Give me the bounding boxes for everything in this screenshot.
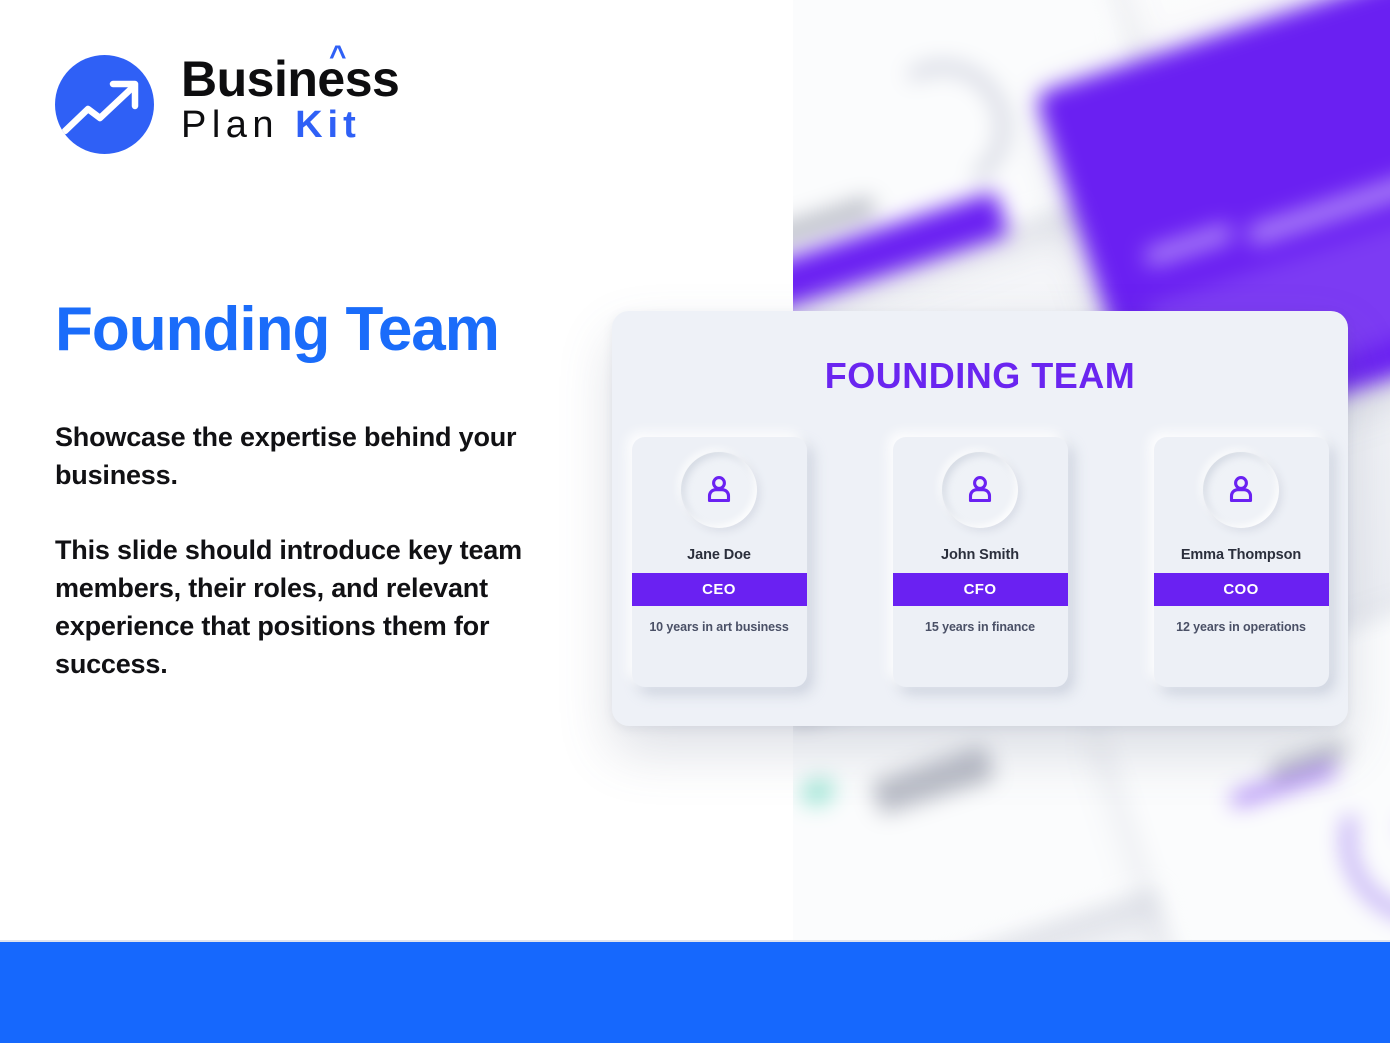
member-role-badge: CEO xyxy=(632,573,807,606)
description-paragraph-2: This slide should introduce key team mem… xyxy=(55,531,595,683)
brand-name-kit: Kit xyxy=(295,104,361,146)
description-paragraph-1: Showcase the expertise behind your busin… xyxy=(55,418,595,494)
footer-divider xyxy=(0,940,1390,942)
bg-label-4b xyxy=(870,745,995,815)
brand-name-business: Business xyxy=(181,51,399,107)
brand-logo[interactable]: Business ^ PlanKit xyxy=(55,53,399,155)
page-title: Founding Team xyxy=(55,293,499,367)
member-experience: 15 years in finance xyxy=(925,620,1035,634)
person-icon xyxy=(942,452,1018,528)
bg-text-2a xyxy=(1143,222,1234,267)
brand-name-line2: PlanKit xyxy=(181,103,399,155)
member-experience: 10 years in art business xyxy=(649,620,788,634)
person-icon xyxy=(1203,452,1279,528)
bg-ring-1 xyxy=(866,50,1020,204)
brand-name-line1: Business ^ xyxy=(181,53,399,105)
bg-dot-4 xyxy=(798,774,838,809)
member-name: Emma Thompson xyxy=(1181,547,1301,563)
brand-circumflex-icon: ^ xyxy=(329,42,346,72)
member-experience: 12 years in operations xyxy=(1176,620,1306,634)
member-name: John Smith xyxy=(941,547,1019,563)
footer-bar xyxy=(0,942,1390,1043)
brand-name-plan: Plan xyxy=(181,104,279,146)
team-member-card[interactable]: Emma Thompson COO 12 years in operations xyxy=(1154,437,1329,687)
member-role-badge: COO xyxy=(1154,573,1329,606)
team-member-card[interactable]: Jane Doe CEO 10 years in art business xyxy=(632,437,807,687)
team-member-list: Jane Doe CEO 10 years in art business Jo… xyxy=(612,437,1348,687)
person-icon xyxy=(681,452,757,528)
trending-up-arrow-icon xyxy=(55,55,154,154)
slide-preview-card[interactable]: FOUNDING TEAM Jane Doe CEO 10 years in a… xyxy=(612,311,1348,726)
slide-heading: FOUNDING TEAM xyxy=(612,355,1348,397)
member-role-badge: CFO xyxy=(893,573,1068,606)
description-block: Showcase the expertise behind your busin… xyxy=(55,418,595,683)
team-member-card[interactable]: John Smith CFO 15 years in finance xyxy=(893,437,1068,687)
member-name: Jane Doe xyxy=(687,547,751,563)
slide-page: Business ^ PlanKit Founding Team Showcas… xyxy=(0,0,1390,1043)
brand-wordmark: Business ^ PlanKit xyxy=(181,53,399,155)
